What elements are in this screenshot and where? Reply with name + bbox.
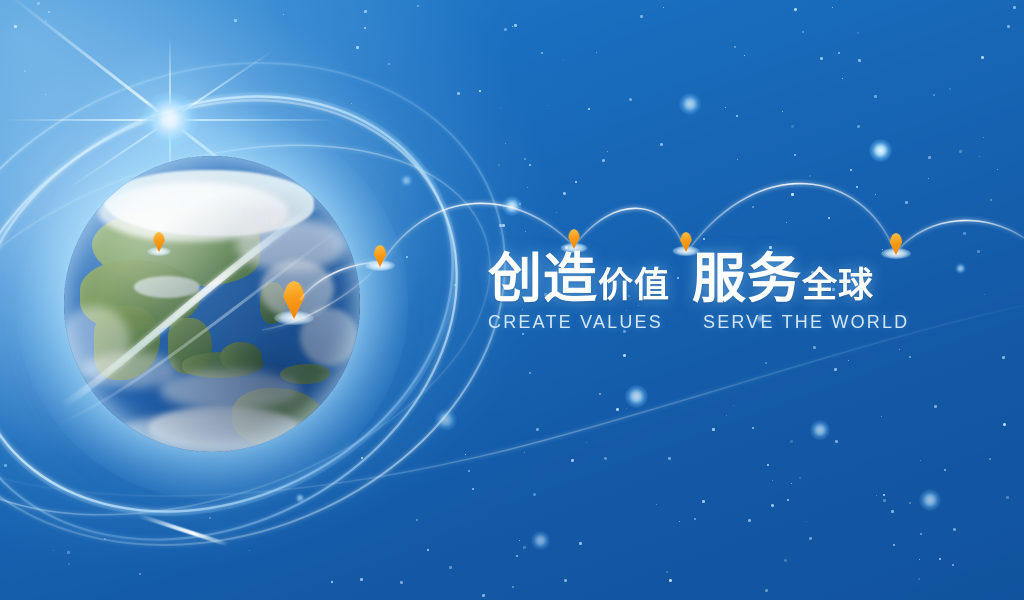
star-dot <box>356 46 359 49</box>
star-dot <box>660 143 663 146</box>
star-dot <box>820 57 823 60</box>
light-streak <box>137 513 230 546</box>
star-dot <box>498 164 500 166</box>
star-dot <box>848 360 849 361</box>
star-dot <box>45 94 46 95</box>
star-glow <box>919 489 941 511</box>
star-dot <box>702 500 705 503</box>
star-dot <box>209 517 211 519</box>
star-dot <box>838 52 840 54</box>
star-dot <box>953 528 956 531</box>
star-dot <box>802 31 804 33</box>
star-dot <box>850 169 852 171</box>
star-dot <box>857 125 860 128</box>
star-dot <box>449 566 452 569</box>
slogan-chinese-line: 创造 价值 服务 全球 <box>488 252 918 306</box>
star-dot <box>666 571 668 573</box>
star-dot <box>794 154 796 156</box>
star-dot <box>952 564 954 566</box>
arc-node4-outbound <box>898 220 1024 250</box>
star-dot <box>522 333 524 335</box>
star-dot <box>499 224 502 227</box>
star-dot <box>53 550 54 551</box>
star-dot <box>748 519 751 522</box>
star-dot <box>712 428 715 431</box>
slogan-block: 创造 价值 服务 全球 CREATE VALUES SERVE THE WORL… <box>488 252 918 306</box>
pin-base-disc <box>561 243 588 253</box>
star-dot <box>37 2 40 5</box>
star-dot <box>388 63 390 65</box>
star-dot <box>767 464 769 466</box>
star-dot <box>791 483 792 484</box>
star-dot <box>806 521 807 522</box>
star-dot <box>772 480 773 481</box>
star-dot <box>905 201 908 204</box>
route-pin-2 <box>565 229 583 253</box>
star-dot <box>883 499 886 502</box>
star-dot <box>875 194 876 195</box>
star-dot <box>524 452 525 453</box>
star-dot <box>596 52 597 53</box>
star-dot <box>983 137 984 138</box>
star-dot <box>771 504 774 507</box>
star-dot <box>1007 25 1010 28</box>
star-dot <box>1013 6 1016 9</box>
star-dot <box>524 158 526 160</box>
star-dot <box>24 70 26 72</box>
star-dot <box>364 27 366 29</box>
star-glow <box>295 493 305 503</box>
star-dot <box>364 10 367 13</box>
star-dot <box>981 56 984 59</box>
earth-globe <box>64 156 360 452</box>
star-dot <box>638 305 639 306</box>
star-dot <box>68 563 70 565</box>
star-dot <box>882 249 883 250</box>
star-dot <box>842 78 843 79</box>
star-dot <box>963 232 966 235</box>
star-dot <box>703 238 705 240</box>
star-dot <box>512 26 513 27</box>
slogan-cn-serve: 服务 <box>692 252 802 306</box>
star-dot <box>571 459 574 462</box>
slogan-cn-world: 全球 <box>802 268 874 306</box>
star-dot <box>623 354 626 357</box>
star-dot <box>679 521 680 522</box>
star-dot <box>579 542 582 545</box>
star-dot <box>585 281 586 282</box>
star-dot <box>331 581 333 583</box>
star-dot <box>626 408 627 409</box>
star-dot <box>500 107 501 108</box>
star-dot <box>525 231 526 232</box>
star-dot <box>794 8 797 11</box>
arc-node3-to-node4 <box>690 184 894 250</box>
star-dot <box>514 24 517 27</box>
star-dot <box>881 416 882 417</box>
star-dot <box>663 7 664 8</box>
star-dot <box>977 250 980 253</box>
star-dot <box>616 408 619 411</box>
star-glow <box>400 174 413 187</box>
star-dot <box>563 192 566 195</box>
star-dot <box>662 217 664 219</box>
route-pin-3 <box>677 232 695 256</box>
star-dot <box>799 477 801 479</box>
arc-node1-to-node2 <box>382 203 572 262</box>
star-dot <box>891 510 894 513</box>
star-dot <box>640 15 643 18</box>
star-dot <box>482 594 485 597</box>
star-dot <box>360 578 363 581</box>
star-dot <box>502 224 505 227</box>
star-dot <box>791 193 794 196</box>
star-dot <box>544 293 547 296</box>
star-dot <box>876 495 877 496</box>
star-dot <box>669 579 672 582</box>
star-glow <box>755 313 766 324</box>
star-dot <box>858 59 861 62</box>
star-dot <box>626 310 627 311</box>
star-dot <box>564 296 567 299</box>
star-dot <box>939 558 941 560</box>
pin-marker-icon <box>680 232 692 252</box>
star-dot <box>668 457 671 460</box>
star-dot <box>400 581 403 584</box>
star-dot <box>427 549 429 551</box>
pin-base-disc <box>881 248 911 259</box>
star-dot <box>765 589 768 592</box>
star-dot <box>14 25 17 28</box>
star-dot <box>752 427 754 429</box>
star-dot <box>662 288 663 289</box>
star-glow <box>810 420 830 440</box>
star-dot <box>607 151 608 152</box>
star-dot <box>920 533 922 535</box>
slogan-cn-create: 创造 <box>488 252 598 306</box>
star-glow <box>679 93 701 115</box>
star-dot <box>604 457 607 460</box>
slogan-english-line: CREATE VALUES SERVE THE WORLD <box>488 312 918 333</box>
star-dot <box>828 217 830 219</box>
star-dot <box>351 103 352 104</box>
star-dot <box>522 309 523 310</box>
star-dot <box>27 172 28 173</box>
star-dot <box>944 469 946 471</box>
pin-marker-icon <box>568 229 580 249</box>
star-dot <box>786 222 787 223</box>
star-dot <box>1003 423 1006 426</box>
star-dot <box>733 405 734 406</box>
star-dot <box>361 457 363 459</box>
globe-sphere <box>64 156 360 452</box>
star-dot <box>883 494 885 496</box>
star-dot <box>657 286 660 289</box>
star-glow <box>531 531 550 550</box>
star-dot <box>857 32 859 34</box>
star-dot <box>536 428 539 431</box>
star-dot <box>599 393 601 395</box>
star-dot <box>899 349 900 350</box>
star-dot <box>811 271 814 274</box>
star-dot <box>832 288 835 291</box>
star-dot <box>813 346 816 349</box>
pin-marker-icon <box>890 233 903 255</box>
star-dot <box>511 265 514 268</box>
star-glow <box>955 263 966 274</box>
star-dot <box>746 314 747 315</box>
star-dot <box>769 246 772 249</box>
star-dot <box>602 159 605 162</box>
star-dot <box>4 464 7 467</box>
star-dot <box>736 115 738 117</box>
star-dot <box>283 14 284 15</box>
star-dot <box>725 107 726 108</box>
star-dot <box>454 284 456 286</box>
star-dot <box>556 212 557 213</box>
star-dot <box>1006 496 1009 499</box>
star-dot <box>734 46 736 48</box>
banner-stage: 创造 价值 服务 全球 CREATE VALUES SERVE THE WORL… <box>0 0 1024 600</box>
star-dot <box>586 442 587 443</box>
globe-rim-light <box>64 156 360 452</box>
star-dot <box>541 52 543 54</box>
star-dot <box>752 206 754 208</box>
star-dot <box>919 559 920 560</box>
pin-base-disc <box>673 246 700 256</box>
star-dot <box>547 105 548 106</box>
star-dot <box>512 586 514 588</box>
arc-node2-to-node3 <box>576 208 684 248</box>
star-dot <box>468 470 470 472</box>
star-dot <box>909 502 911 504</box>
star-dot <box>104 538 106 540</box>
star-dot <box>529 372 531 374</box>
star-dot <box>834 368 837 371</box>
star-dot <box>934 405 937 408</box>
star-dot <box>949 88 951 90</box>
star-dot <box>519 540 520 541</box>
star-dot <box>656 504 657 505</box>
star-dot <box>677 277 679 279</box>
star-dot <box>504 28 507 31</box>
slogan-cn-values: 价值 <box>598 268 670 306</box>
star-glow <box>502 196 522 216</box>
slogan-en-serve-the-world: SERVE THE WORLD <box>703 312 918 333</box>
star-dot <box>928 156 931 159</box>
star-dot <box>588 108 590 110</box>
star-dot <box>565 246 568 249</box>
star-dot <box>782 111 783 112</box>
star-dot <box>832 7 833 8</box>
star-dot <box>809 175 811 177</box>
star-dot <box>563 59 564 60</box>
star-dot <box>791 125 794 128</box>
star-dot <box>856 186 858 188</box>
star-dot <box>784 559 787 562</box>
star-glow <box>435 409 457 431</box>
star-dot <box>564 579 567 582</box>
star-dot <box>989 458 991 460</box>
star-dot <box>234 19 237 22</box>
star-dot <box>990 199 992 201</box>
star-dot <box>45 20 47 22</box>
star-dot <box>874 95 877 98</box>
star-dot <box>503 290 504 291</box>
star-dot <box>629 98 632 101</box>
star-dot <box>417 5 419 7</box>
star-dot <box>853 275 855 277</box>
star-dot <box>575 181 577 183</box>
star-dot <box>694 518 696 520</box>
star-dot <box>457 92 460 95</box>
slogan-en-create-values: CREATE VALUES <box>488 312 703 333</box>
star-dot <box>809 537 812 540</box>
star-dot <box>854 292 855 293</box>
star-dot <box>765 362 767 364</box>
star-dot <box>984 294 985 295</box>
star-dot <box>516 555 518 557</box>
star-dot <box>997 169 998 170</box>
star-dot <box>48 11 50 13</box>
star-dot <box>406 256 408 258</box>
star-dot <box>523 546 526 549</box>
star-dot <box>979 156 980 157</box>
star-dot <box>465 454 466 455</box>
star-dot <box>505 143 506 144</box>
star-dot <box>959 150 962 153</box>
star-dot <box>529 164 531 166</box>
star-glow <box>869 139 892 162</box>
route-pin-4 <box>886 233 906 259</box>
star-dot <box>533 493 536 496</box>
star-dot <box>249 550 250 551</box>
star-dot <box>623 330 626 333</box>
star-dot <box>731 256 732 257</box>
star-dot <box>920 460 921 461</box>
star-dot <box>726 415 727 416</box>
star-glow <box>625 385 648 408</box>
star-dot <box>893 544 895 546</box>
star-dot <box>744 55 745 56</box>
star-dot <box>909 356 911 358</box>
star-dot <box>584 248 585 249</box>
star-dot <box>139 573 141 575</box>
star-dot <box>835 440 838 443</box>
star-dot <box>479 90 481 92</box>
star-dot <box>790 440 793 443</box>
star-dot <box>628 295 630 297</box>
star-dot <box>472 488 474 490</box>
star-dot <box>1002 356 1005 359</box>
star-dot <box>787 499 789 501</box>
star-dot <box>763 324 766 327</box>
star-dot <box>918 578 920 580</box>
star-dot <box>933 94 935 96</box>
star-dot <box>527 187 528 188</box>
star-dot <box>416 519 418 521</box>
star-dot <box>737 159 738 160</box>
star-dot <box>519 203 521 205</box>
star-dot <box>928 178 929 179</box>
star-dot <box>67 551 70 554</box>
